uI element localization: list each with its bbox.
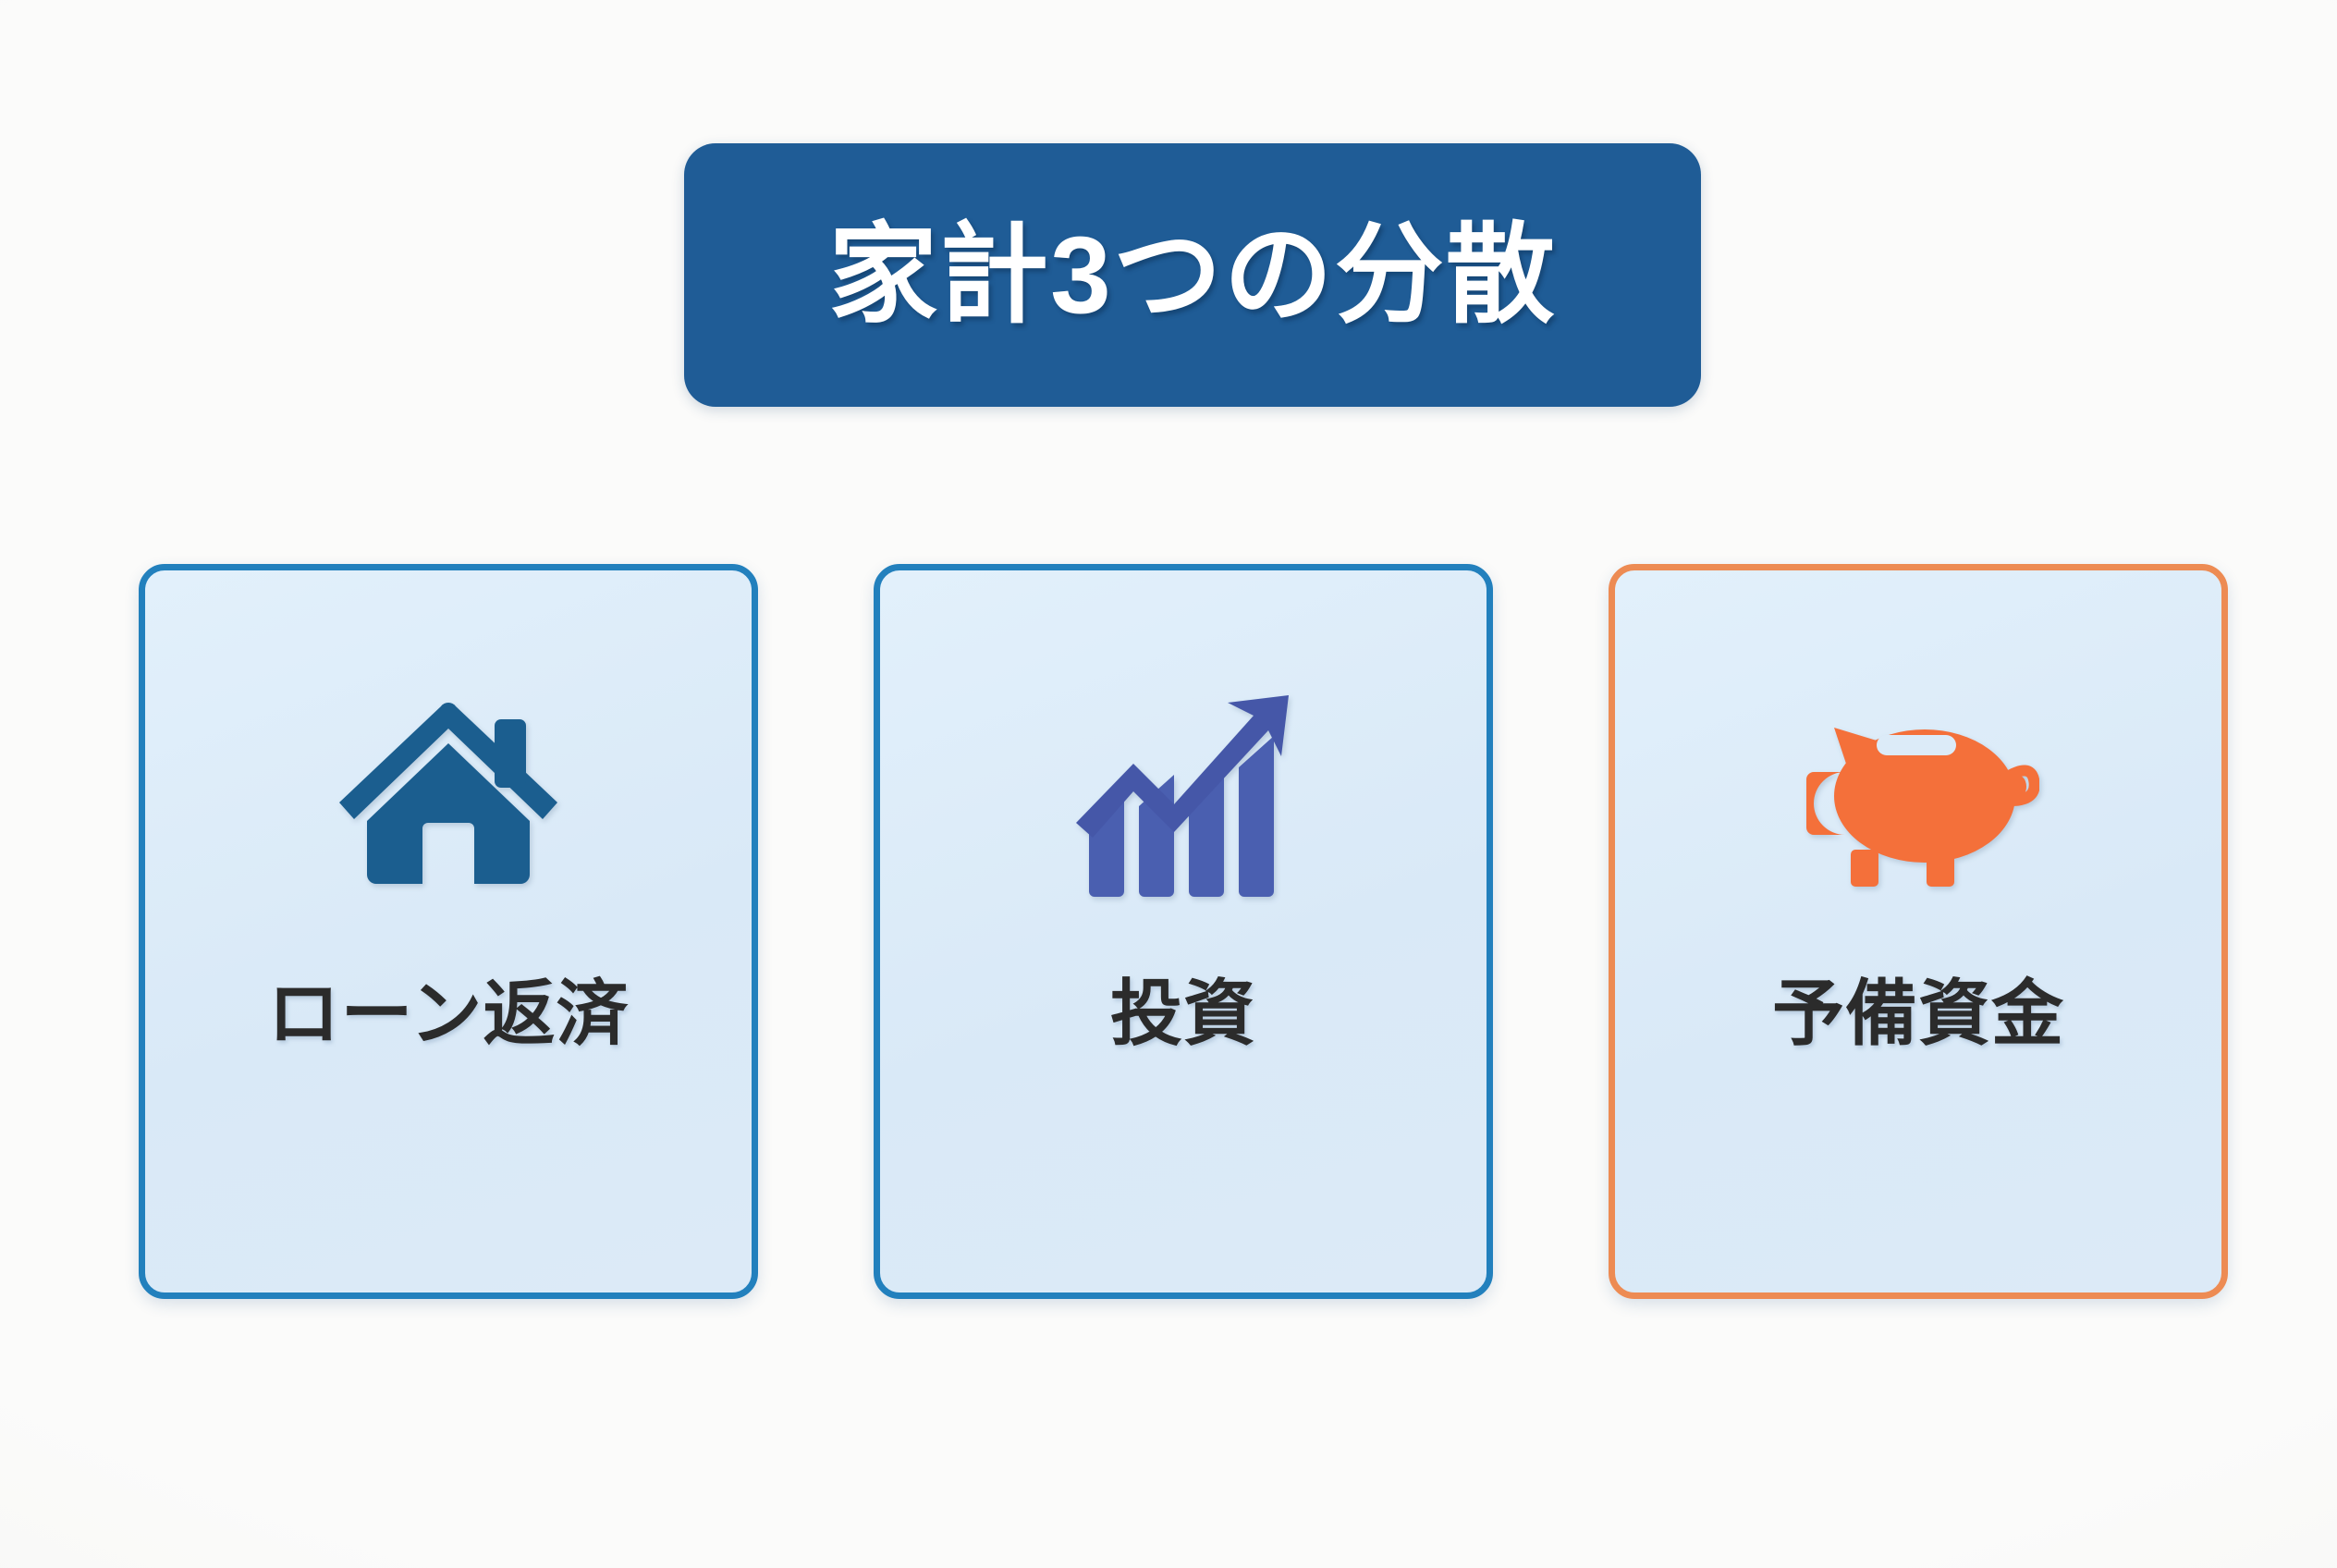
card-reserve-funds[interactable]: 予備資金 — [1609, 564, 2228, 1299]
house-icon — [319, 692, 578, 905]
title-banner: 家計3つの分散 — [684, 143, 1701, 407]
piggy-bank-icon — [1789, 692, 2048, 905]
card-label: 投資 — [1110, 977, 1256, 1049]
card-loan-repayment[interactable]: ローン返済 — [139, 564, 758, 1299]
card-label: ローン返済 — [267, 977, 629, 1049]
card-investment[interactable]: 投資 — [874, 564, 1493, 1299]
card-row: ローン返済 投資 — [0, 564, 2337, 1304]
page-title: 家計3つの分散 — [828, 221, 1557, 330]
growth-chart-icon — [1054, 692, 1313, 905]
card-label: 予備資金 — [1772, 977, 2064, 1049]
